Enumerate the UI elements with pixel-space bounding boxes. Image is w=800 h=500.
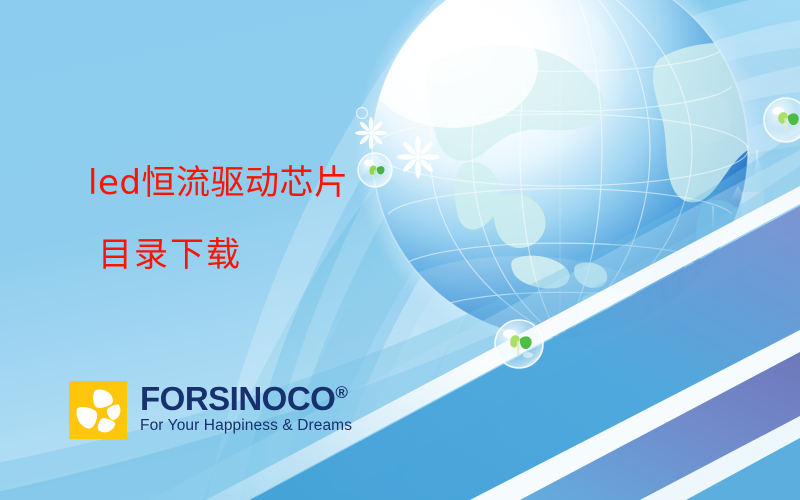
bubble-sprout-mid (495, 320, 543, 368)
logo-tagline: For Your Happiness & Dreams (140, 417, 352, 435)
logo-text-block: FORSINOCO® For Your Happiness & Dreams (140, 381, 352, 435)
headline-line-2: 目录下载 (98, 238, 348, 272)
brand-logo: FORSINOCO® For Your Happiness & Dreams (69, 381, 352, 439)
logo-mark-icon (69, 381, 127, 439)
bubble-sprout-top (358, 153, 392, 187)
promo-banner: led恒流驱动芯片 目录下载 FORSINOCO® (0, 0, 800, 500)
pinwheel-petals-icon (69, 381, 127, 439)
bubble-tiny-b (680, 92, 732, 144)
headline-line-1: led恒流驱动芯片 (88, 166, 348, 200)
headline: led恒流驱动芯片 目录下载 (88, 166, 348, 272)
logo-wordmark-text: FORSINOCO (140, 380, 335, 417)
registered-trademark-icon: ® (335, 383, 348, 402)
logo-wordmark: FORSINOCO® (140, 382, 352, 415)
bubble-sprout-right (764, 98, 800, 142)
